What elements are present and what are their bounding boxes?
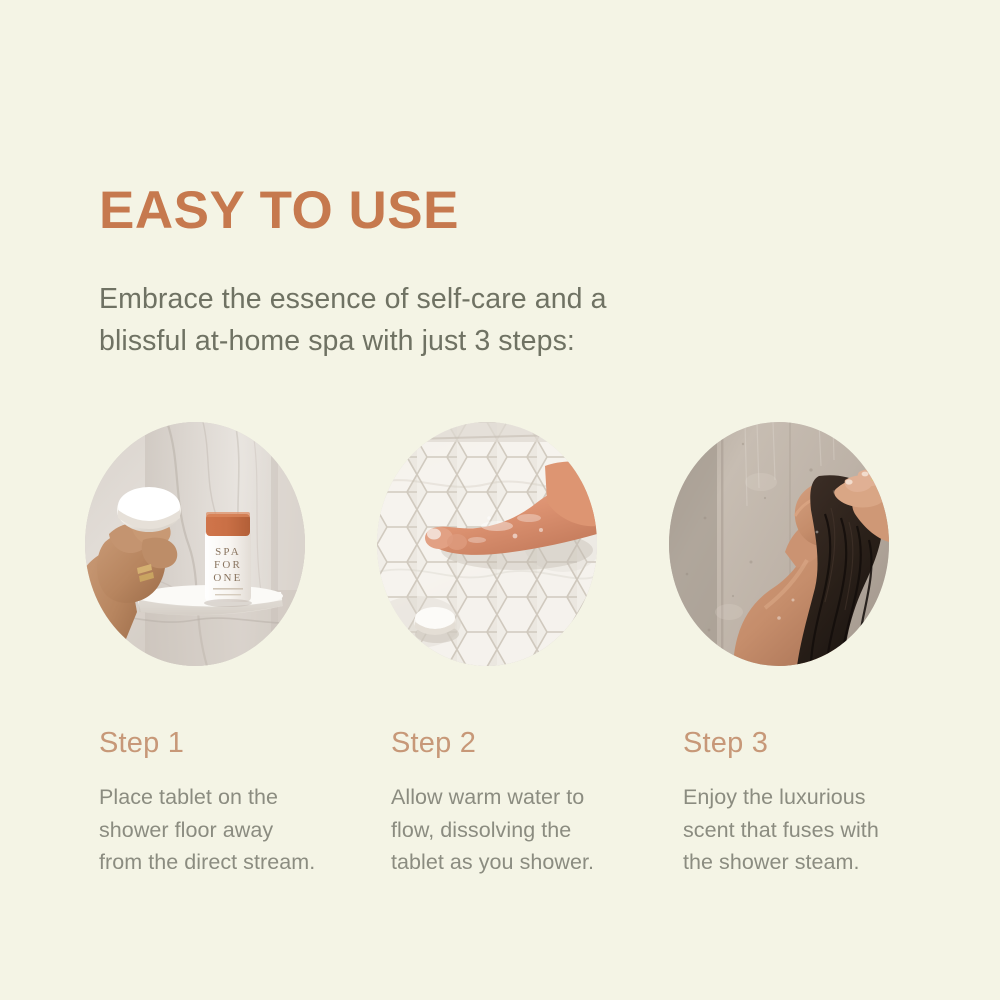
step-1-description: Place tablet on the shower floor away fr… bbox=[99, 781, 305, 879]
step-1: SPA FOR ONE Step 1 Place tablet on the s… bbox=[85, 422, 305, 879]
step-1-desc-line-2: shower floor away bbox=[99, 814, 305, 847]
product-label-line-2: FOR bbox=[214, 559, 242, 571]
step-3-desc-line-2: scent that fuses with bbox=[683, 814, 889, 847]
easy-to-use-infographic: EASY TO USE Embrace the essence of self-… bbox=[0, 0, 1000, 1000]
step-2-description: Allow warm water to flow, dissolving the… bbox=[391, 781, 597, 879]
step-3-desc-line-1: Enjoy the luxurious bbox=[683, 781, 889, 814]
step-1-photo: SPA FOR ONE bbox=[85, 422, 305, 666]
step-2: Step 2 Allow warm water to flow, dissolv… bbox=[377, 422, 597, 879]
step-3-label: Step 3 bbox=[683, 728, 889, 760]
step-3: Step 3 Enjoy the luxurious scent that fu… bbox=[669, 422, 889, 879]
step-2-desc-line-1: Allow warm water to bbox=[391, 781, 597, 814]
woman-rinsing-hair-illustration bbox=[669, 422, 889, 666]
step-1-desc-line-1: Place tablet on the bbox=[99, 781, 305, 814]
page-title: EASY TO USE bbox=[99, 183, 459, 239]
step-2-photo bbox=[377, 422, 597, 666]
subtitle-line-1: Embrace the essence of self-care and a bbox=[99, 278, 779, 320]
step-2-desc-line-2: flow, dissolving the bbox=[391, 814, 597, 847]
step-1-label: Step 1 bbox=[99, 728, 305, 760]
page-subtitle: Embrace the essence of self-care and a b… bbox=[99, 278, 779, 362]
step-2-desc-line-3: tablet as you shower. bbox=[391, 846, 597, 879]
subtitle-line-2: blissful at-home spa with just 3 steps: bbox=[99, 320, 779, 362]
step-3-description: Enjoy the luxurious scent that fuses wit… bbox=[683, 781, 889, 879]
product-label-line-3: ONE bbox=[213, 572, 242, 584]
step-1-desc-line-3: from the direct stream. bbox=[99, 846, 305, 879]
steps-row: SPA FOR ONE Step 1 Place tablet on the s… bbox=[85, 422, 931, 879]
step-3-photo bbox=[669, 422, 889, 666]
foot-on-hexagon-tile-illustration bbox=[377, 422, 597, 666]
step-3-desc-line-3: the shower steam. bbox=[683, 846, 889, 879]
step-2-label: Step 2 bbox=[391, 728, 597, 760]
hand-holding-tablet-illustration: SPA FOR ONE bbox=[85, 422, 305, 666]
product-label-line-1: SPA bbox=[215, 546, 241, 558]
